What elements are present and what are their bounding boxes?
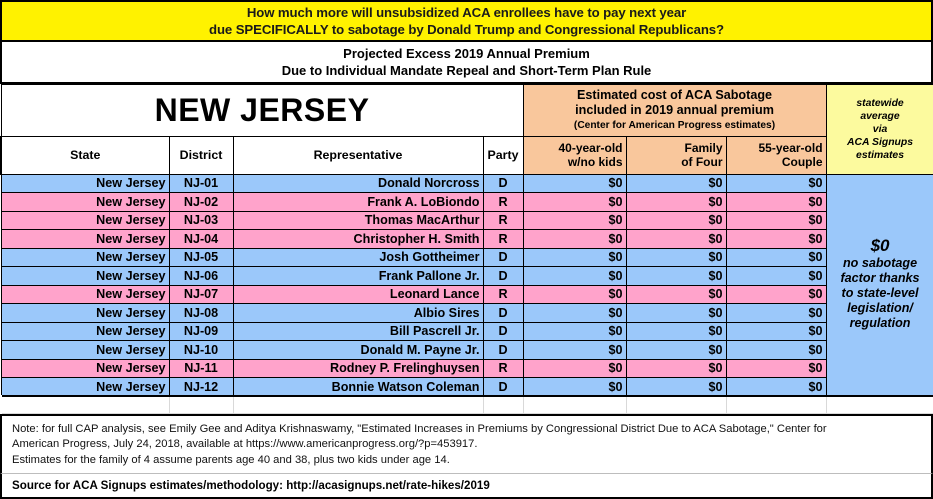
subtitle-block: Projected Excess 2019 Annual Premium Due… xyxy=(0,42,933,84)
cell-district: NJ-08 xyxy=(169,304,233,323)
col-fam-line-2: of Four xyxy=(630,155,723,169)
col-40-line-2: w/no kids xyxy=(527,155,623,169)
cell-cost-55-year-old-couple: $0 xyxy=(726,230,826,249)
headline-line-1: How much more will unsubsidized ACA enro… xyxy=(247,4,686,21)
statewide-note-l1: no sabotage xyxy=(830,256,931,271)
cell-cost-family-of-four: $0 xyxy=(626,359,726,378)
cell-party: D xyxy=(483,248,523,267)
cell-representative: Frank A. LoBiondo xyxy=(233,193,483,212)
cell-party: D xyxy=(483,304,523,323)
col-55-line-2: Couple xyxy=(730,155,823,169)
premium-table: NEW JERSEY Estimated cost of ACA Sabotag… xyxy=(0,84,933,414)
cell-cost-40-year-old: $0 xyxy=(523,341,626,360)
table-row: New JerseyNJ-03Thomas MacArthurR$0$0$0 xyxy=(1,211,933,230)
cell-cost-40-year-old: $0 xyxy=(523,378,626,397)
subtitle-line-1: Projected Excess 2019 Annual Premium xyxy=(343,45,590,62)
cell-cost-55-year-old-couple: $0 xyxy=(726,285,826,304)
table-row: New JerseyNJ-07Leonard LanceR$0$0$0 xyxy=(1,285,933,304)
spreadsheet-page: How much more will unsubsidized ACA enro… xyxy=(0,0,933,499)
spacer-cell xyxy=(523,396,626,413)
cell-state: New Jersey xyxy=(1,359,169,378)
footnote-block: Note: for full CAP analysis, see Emily G… xyxy=(0,414,933,475)
cell-representative: Donald Norcross xyxy=(233,174,483,193)
column-header-40-year-old: 40-year-old w/no kids xyxy=(523,136,626,174)
cell-cost-55-year-old-couple: $0 xyxy=(726,359,826,378)
cell-cost-55-year-old-couple: $0 xyxy=(726,174,826,193)
spacer-row xyxy=(1,396,933,413)
cell-cost-40-year-old: $0 xyxy=(523,322,626,341)
cell-cost-family-of-four: $0 xyxy=(626,322,726,341)
cell-party: R xyxy=(483,230,523,249)
cell-cost-40-year-old: $0 xyxy=(523,211,626,230)
cell-district: NJ-03 xyxy=(169,211,233,230)
cell-cost-family-of-four: $0 xyxy=(626,378,726,397)
spacer-cell xyxy=(1,396,169,413)
cell-district: NJ-02 xyxy=(169,193,233,212)
cell-state: New Jersey xyxy=(1,304,169,323)
cell-district: NJ-10 xyxy=(169,341,233,360)
source-line: Source for ACA Signups estimates/methodo… xyxy=(0,474,933,499)
cell-district: NJ-09 xyxy=(169,322,233,341)
statewide-note-l2: factor thanks xyxy=(830,271,931,286)
cell-state: New Jersey xyxy=(1,378,169,397)
cell-party: R xyxy=(483,193,523,212)
cell-district: NJ-06 xyxy=(169,267,233,286)
cell-representative: Bonnie Watson Coleman xyxy=(233,378,483,397)
cell-cost-40-year-old: $0 xyxy=(523,267,626,286)
cell-state: New Jersey xyxy=(1,211,169,230)
table-row: New JerseyNJ-02Frank A. LoBiondoR$0$0$0 xyxy=(1,193,933,212)
table-row: New JerseyNJ-06Frank Pallone Jr.D$0$0$0 xyxy=(1,267,933,286)
statewide-line-1: statewide xyxy=(830,97,931,110)
sabotage-header: Estimated cost of ACA Sabotage included … xyxy=(523,84,826,136)
statewide-average-value: $0no sabotagefactor thanksto state-level… xyxy=(826,174,933,396)
cell-state: New Jersey xyxy=(1,341,169,360)
table-row: New JerseyNJ-11Rodney P. FrelinghuysenR$… xyxy=(1,359,933,378)
cell-representative: Bill Pascrell Jr. xyxy=(233,322,483,341)
cell-district: NJ-01 xyxy=(169,174,233,193)
cell-cost-family-of-four: $0 xyxy=(626,267,726,286)
cell-state: New Jersey xyxy=(1,267,169,286)
cell-representative: Josh Gottheimer xyxy=(233,248,483,267)
col-40-line-1: 40-year-old xyxy=(527,141,623,155)
subtitle-line-2: Due to Individual Mandate Repeal and Sho… xyxy=(282,62,652,79)
cell-cost-55-year-old-couple: $0 xyxy=(726,248,826,267)
cell-cost-40-year-old: $0 xyxy=(523,248,626,267)
cell-cost-55-year-old-couple: $0 xyxy=(726,193,826,212)
table-row: New JerseyNJ-08Albio SiresD$0$0$0 xyxy=(1,304,933,323)
cell-cost-40-year-old: $0 xyxy=(523,230,626,249)
cell-cost-family-of-four: $0 xyxy=(626,285,726,304)
cell-party: D xyxy=(483,378,523,397)
cell-cost-family-of-four: $0 xyxy=(626,193,726,212)
cell-cost-55-year-old-couple: $0 xyxy=(726,322,826,341)
cell-cost-family-of-four: $0 xyxy=(626,341,726,360)
cell-district: NJ-11 xyxy=(169,359,233,378)
sabotage-header-source: (Center for American Progress estimates) xyxy=(527,118,823,133)
cell-cost-family-of-four: $0 xyxy=(626,248,726,267)
cell-district: NJ-05 xyxy=(169,248,233,267)
cell-cost-family-of-four: $0 xyxy=(626,174,726,193)
cell-representative: Albio Sires xyxy=(233,304,483,323)
cell-state: New Jersey xyxy=(1,248,169,267)
spacer-cell xyxy=(233,396,483,413)
col-55-line-1: 55-year-old xyxy=(730,141,823,155)
table-row: New JerseyNJ-09Bill Pascrell Jr.D$0$0$0 xyxy=(1,322,933,341)
table-body: New JerseyNJ-01Donald NorcrossD$0$0$0$0n… xyxy=(1,174,933,396)
cell-cost-40-year-old: $0 xyxy=(523,174,626,193)
col-fam-line-1: Family xyxy=(630,141,723,155)
column-header-family-of-four: Family of Four xyxy=(626,136,726,174)
spacer-cell xyxy=(826,396,933,413)
cell-state: New Jersey xyxy=(1,322,169,341)
cell-representative: Christopher H. Smith xyxy=(233,230,483,249)
table-row: New JerseyNJ-01Donald NorcrossD$0$0$0$0n… xyxy=(1,174,933,193)
cell-state: New Jersey xyxy=(1,285,169,304)
footnote-line-3: Estimates for the family of 4 assume par… xyxy=(12,453,921,469)
state-title: NEW JERSEY xyxy=(1,84,523,136)
column-header-row: State District Representative Party 40-y… xyxy=(1,136,933,174)
cell-party: R xyxy=(483,359,523,378)
cell-cost-55-year-old-couple: $0 xyxy=(726,341,826,360)
sabotage-header-line-2: included in 2019 annual premium xyxy=(527,103,823,118)
cell-representative: Rodney P. Frelinghuysen xyxy=(233,359,483,378)
statewide-note-l4: legislation/ xyxy=(830,301,931,316)
table-row: New JerseyNJ-04Christopher H. SmithR$0$0… xyxy=(1,230,933,249)
cell-cost-40-year-old: $0 xyxy=(523,285,626,304)
cell-cost-55-year-old-couple: $0 xyxy=(726,378,826,397)
statewide-note-l5: regulation xyxy=(830,316,931,331)
cell-cost-family-of-four: $0 xyxy=(626,230,726,249)
column-header-district: District xyxy=(169,136,233,174)
cell-representative: Thomas MacArthur xyxy=(233,211,483,230)
cell-party: D xyxy=(483,322,523,341)
cell-district: NJ-07 xyxy=(169,285,233,304)
cell-representative: Frank Pallone Jr. xyxy=(233,267,483,286)
statewide-average-header: statewide average via ACA Signups estima… xyxy=(826,84,933,174)
cell-cost-55-year-old-couple: $0 xyxy=(726,267,826,286)
column-header-state: State xyxy=(1,136,169,174)
cell-cost-55-year-old-couple: $0 xyxy=(726,304,826,323)
cell-state: New Jersey xyxy=(1,230,169,249)
cell-representative: Leonard Lance xyxy=(233,285,483,304)
cell-state: New Jersey xyxy=(1,193,169,212)
table-row: New JerseyNJ-05Josh GottheimerD$0$0$0 xyxy=(1,248,933,267)
column-header-representative: Representative xyxy=(233,136,483,174)
statewide-line-4: ACA Signups xyxy=(830,136,931,149)
column-header-party: Party xyxy=(483,136,523,174)
cell-party: D xyxy=(483,341,523,360)
footnote-line-1: Note: for full CAP analysis, see Emily G… xyxy=(12,422,921,438)
title-band-row: NEW JERSEY Estimated cost of ACA Sabotag… xyxy=(1,84,933,136)
cell-party: D xyxy=(483,174,523,193)
sabotage-header-line-1: Estimated cost of ACA Sabotage xyxy=(527,88,823,103)
spacer-cell xyxy=(726,396,826,413)
cell-representative: Donald M. Payne Jr. xyxy=(233,341,483,360)
spacer-cell xyxy=(483,396,523,413)
spacer-cell xyxy=(169,396,233,413)
spacer-cell xyxy=(626,396,726,413)
column-header-55-year-old-couple: 55-year-old Couple xyxy=(726,136,826,174)
statewide-note-l3: to state-level xyxy=(830,286,931,301)
cell-cost-40-year-old: $0 xyxy=(523,193,626,212)
table-row: New JerseyNJ-12Bonnie Watson ColemanD$0$… xyxy=(1,378,933,397)
cell-cost-55-year-old-couple: $0 xyxy=(726,211,826,230)
cell-party: R xyxy=(483,285,523,304)
statewide-line-2: average xyxy=(830,110,931,123)
cell-cost-family-of-four: $0 xyxy=(626,211,726,230)
headline-banner: How much more will unsubsidized ACA enro… xyxy=(0,0,933,42)
cell-party: R xyxy=(483,211,523,230)
statewide-average-amount: $0 xyxy=(830,238,931,253)
cell-state: New Jersey xyxy=(1,174,169,193)
footnote-line-2: American Progress, July 24, 2018, availa… xyxy=(12,437,921,453)
statewide-line-3: via xyxy=(830,123,931,136)
statewide-line-5: estimates xyxy=(830,149,931,162)
table-row: New JerseyNJ-10Donald M. Payne Jr.D$0$0$… xyxy=(1,341,933,360)
cell-district: NJ-04 xyxy=(169,230,233,249)
cell-cost-40-year-old: $0 xyxy=(523,304,626,323)
cell-cost-40-year-old: $0 xyxy=(523,359,626,378)
cell-cost-family-of-four: $0 xyxy=(626,304,726,323)
cell-district: NJ-12 xyxy=(169,378,233,397)
headline-line-2: due SPECIFICALLY to sabotage by Donald T… xyxy=(209,21,724,38)
cell-party: D xyxy=(483,267,523,286)
